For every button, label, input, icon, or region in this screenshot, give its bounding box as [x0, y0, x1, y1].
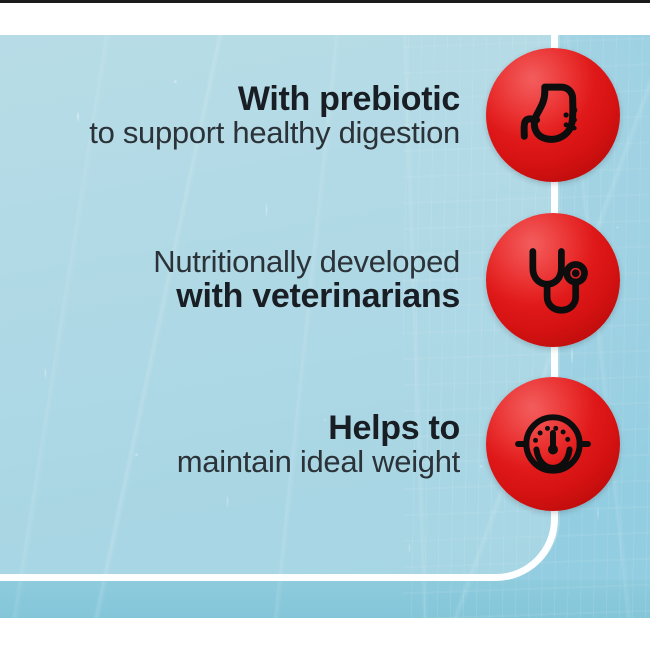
- feature-item-prebiotic: With prebiotic to support healthy digest…: [0, 47, 650, 183]
- feature-headline: Nutritionally developed: [0, 246, 460, 279]
- weight-scale-icon: [507, 398, 599, 490]
- feature-banner: With prebiotic to support healthy digest…: [0, 0, 650, 651]
- feature-badge-ideal-weight: [486, 377, 620, 511]
- feature-badge-prebiotic: [486, 48, 620, 182]
- feature-text-prebiotic: With prebiotic to support healthy digest…: [0, 81, 486, 150]
- feature-subline: maintain ideal weight: [0, 446, 460, 479]
- stomach-icon: [512, 74, 594, 156]
- feature-item-ideal-weight: Helps to maintain ideal weight: [0, 376, 650, 512]
- feature-text-ideal-weight: Helps to maintain ideal weight: [0, 410, 486, 479]
- feature-badge-veterinarians: [486, 213, 620, 347]
- feature-headline: With prebiotic: [0, 81, 460, 117]
- top-divider: [0, 0, 650, 3]
- feature-headline: Helps to: [0, 410, 460, 446]
- feature-subline: with veterinarians: [0, 278, 460, 314]
- stethoscope-icon: [511, 238, 595, 322]
- feature-subline: to support healthy digestion: [0, 117, 460, 150]
- bottom-whitespace: [0, 618, 650, 651]
- feature-item-veterinarians: Nutritionally developed with veterinaria…: [0, 212, 650, 348]
- feature-text-veterinarians: Nutritionally developed with veterinaria…: [0, 246, 486, 315]
- feature-list: With prebiotic to support healthy digest…: [0, 35, 650, 618]
